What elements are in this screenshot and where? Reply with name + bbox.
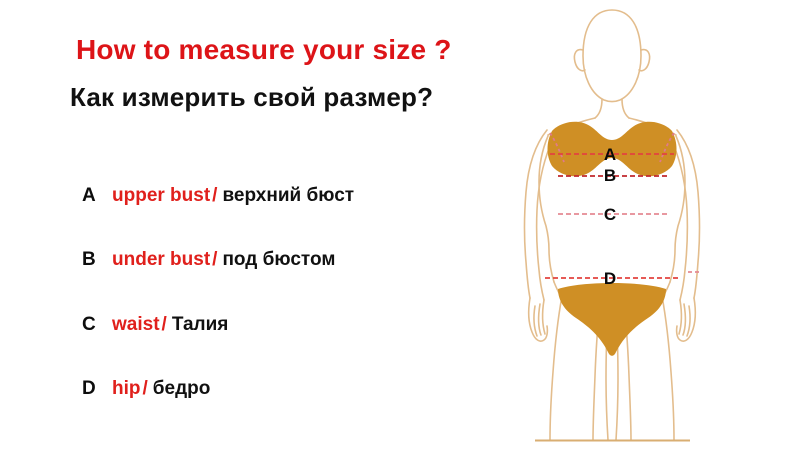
measurement-row-c: C waist / Талия [82, 314, 228, 336]
measurement-separator-a: / [210, 185, 219, 207]
measurement-marker-c: C [82, 314, 112, 336]
measurement-row-d: D hip / бедро [82, 378, 210, 400]
figure-label-c: C [600, 205, 620, 225]
measurement-term-en-a: upper bust [112, 185, 210, 207]
measurement-separator-d: / [141, 378, 150, 400]
body-figure-illustration [490, 0, 800, 458]
measurement-term-ru-b: под бюстом [219, 249, 335, 271]
figure-label-b: B [600, 166, 620, 186]
measurement-term-en-d: hip [112, 378, 141, 400]
measurement-marker-d: D [82, 378, 112, 400]
page-title-english: How to measure your size ? [76, 34, 452, 66]
measurement-term-en-c: waist [112, 314, 160, 336]
measurement-separator-c: / [160, 314, 169, 336]
panty-garment [558, 283, 666, 356]
measurement-term-ru-d: бедро [150, 378, 211, 400]
measurement-row-a: A upper bust / верхний бюст [82, 185, 354, 207]
measurement-term-ru-c: Талия [169, 314, 229, 336]
measurement-term-ru-a: верхний бюст [219, 185, 354, 207]
page-title-russian: Как измерить свой размер? [70, 82, 433, 113]
body-outline-icon [490, 0, 800, 458]
measurement-term-en-b: under bust [112, 249, 210, 271]
size-guide-page: How to measure your size ? Как измерить … [0, 0, 800, 458]
figure-label-d: D [600, 269, 620, 289]
measurement-separator-b: / [210, 249, 219, 271]
measurement-row-b: B under bust / под бюстом [82, 249, 335, 271]
measurement-marker-a: A [82, 185, 112, 207]
measurement-marker-b: B [82, 249, 112, 271]
figure-label-a: A [600, 145, 620, 165]
